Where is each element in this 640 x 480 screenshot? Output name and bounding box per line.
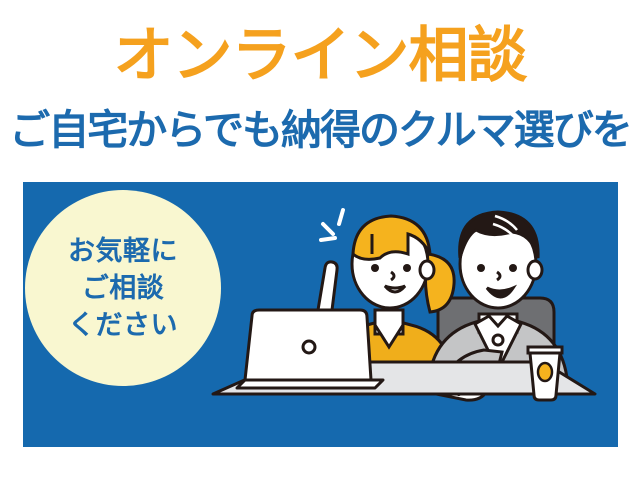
- headline-area: オンライン相談 ご自宅からでも納得のクルマ選びを: [0, 0, 640, 178]
- laptop-icon: [237, 310, 383, 388]
- coffee-cup-icon: [528, 347, 562, 400]
- page-title: オンライン相談: [0, 20, 640, 92]
- badge-line-2: ご相談: [82, 270, 165, 307]
- badge-line-3: ください: [68, 307, 178, 344]
- badge-line-1: お気軽に: [68, 233, 178, 270]
- sparkle-icon: [321, 210, 343, 240]
- page-subtitle: ご自宅からでも納得のクルマ選びを: [0, 104, 640, 156]
- status-badge: お気軽に ご相談 ください: [25, 190, 221, 386]
- illustration-panel: お気軽に ご相談 ください: [23, 182, 618, 447]
- poster-root: オンライン相談 ご自宅からでも納得のクルマ選びを: [0, 0, 640, 480]
